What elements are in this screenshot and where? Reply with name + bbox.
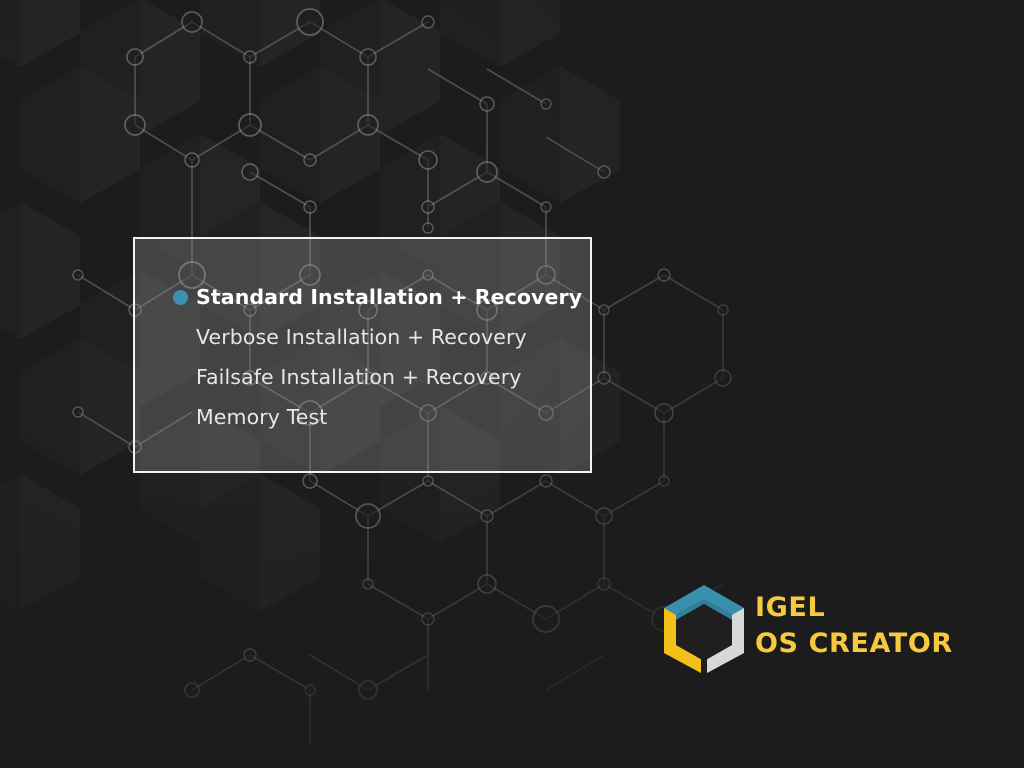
logo-brand-line2: OS CREATOR: [755, 626, 953, 662]
selected-bullet-icon: [173, 290, 188, 305]
boot-menu-item-label: Failsafe Installation + Recovery: [196, 365, 521, 389]
boot-menu-item-label: Verbose Installation + Recovery: [196, 325, 527, 349]
logo-brand-line1: IGEL: [755, 590, 953, 626]
boot-menu-item-memory-test[interactable]: Memory Test: [135, 397, 590, 437]
boot-menu-item-standard-installation[interactable]: Standard Installation + Recovery: [135, 277, 590, 317]
boot-menu-item-failsafe-installation[interactable]: Failsafe Installation + Recovery: [135, 357, 590, 397]
logo-wordmark: IGEL OS CREATOR: [755, 590, 953, 662]
boot-menu-list: Standard Installation + Recovery Verbose…: [135, 239, 590, 437]
boot-screen: Standard Installation + Recovery Verbose…: [0, 0, 1024, 768]
boot-menu-panel: Standard Installation + Recovery Verbose…: [133, 237, 592, 473]
boot-menu-item-label: Memory Test: [196, 405, 327, 429]
boot-menu-item-verbose-installation[interactable]: Verbose Installation + Recovery: [135, 317, 590, 357]
igel-hexagon-logo-icon: [660, 583, 748, 673]
igel-os-creator-logo: IGEL OS CREATOR: [660, 583, 962, 673]
boot-menu-item-label: Standard Installation + Recovery: [196, 285, 582, 309]
